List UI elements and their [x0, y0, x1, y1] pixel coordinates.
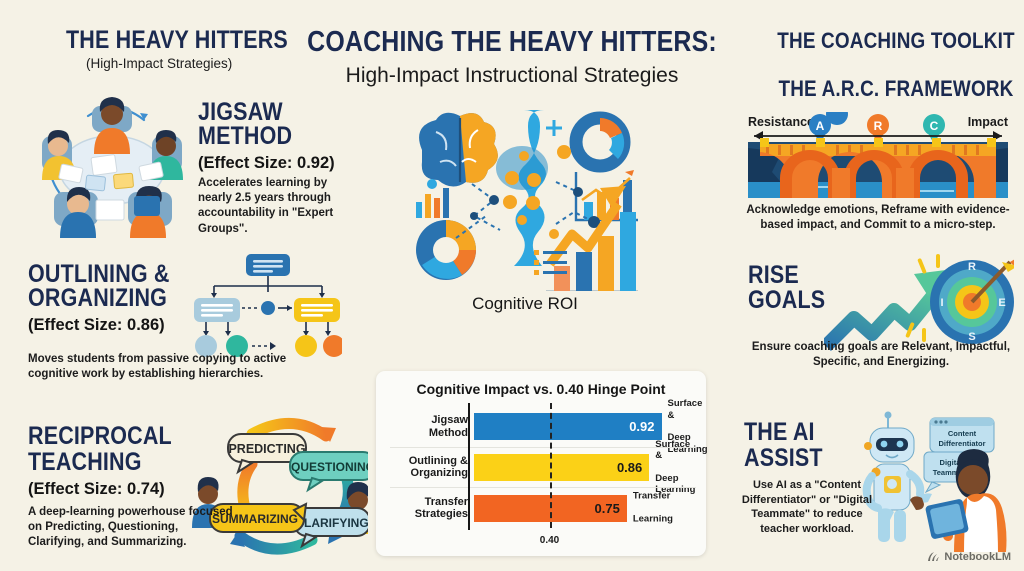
reciprocal-effect-size: (Effect Size: 0.74) [28, 480, 165, 499]
svg-text:C: C [930, 119, 939, 133]
chart-category-label: Jigsaw Method [390, 414, 474, 439]
reciprocal-title-line1: RECIPROCAL [28, 424, 172, 449]
rise-title-line2: GOALS [748, 288, 825, 313]
chart-annotation-line: Surface & [655, 439, 696, 462]
chart-bar-value: 0.86 [617, 460, 649, 475]
outlining-effect-size: (Effect Size: 0.86) [28, 316, 165, 335]
chart-annotation-line: Learning [633, 514, 673, 525]
arc-right-label: Impact [968, 115, 1009, 129]
outlining-title-line2: ORGANIZING [28, 286, 167, 311]
svg-text:CLARIFYING: CLARIFYING [295, 516, 368, 530]
page-title: COACHING THE HEAVY HITTERS: [307, 28, 717, 57]
svg-text:I: I [940, 297, 943, 309]
chart-bar-row: Jigsaw Method 0.92 Surface & Deep Learni… [390, 407, 696, 447]
arc-description: Acknowledge emotions, Reframe with evide… [744, 203, 1012, 233]
chart-category-line: Method [390, 427, 468, 440]
chart-annotation-line: Transfer [633, 491, 673, 502]
chart-y-axis [468, 403, 470, 530]
chart-bar-annotation: Transfer Learning [633, 480, 673, 537]
jigsaw-description: Accelerates learning by nearly 2.5 years… [198, 176, 348, 237]
chart-hinge-label: 0.40 [525, 535, 575, 546]
chart-plot-area: Jigsaw Method 0.92 Surface & Deep Learni… [390, 407, 696, 526]
toolkit-section-title: THE COACHING TOOLKIT [777, 30, 1014, 52]
chart-hinge-reference-line [550, 403, 552, 528]
svg-text:Content: Content [948, 429, 977, 438]
svg-text:PREDICTING: PREDICTING [228, 442, 305, 456]
reciprocal-description: A deep-learning powerhouse focused on Pr… [28, 505, 233, 551]
stone-bridge-icon: Resistance Impact A R C [744, 112, 1012, 198]
chart-category-label: Transfer Strategies [390, 496, 474, 521]
infographic-page: THE HEAVY HITTERS (High-Impact Strategie… [0, 0, 1024, 571]
chart-bar-value: 0.75 [595, 501, 627, 516]
ai-title-line2: ASSIST [744, 446, 823, 471]
chart-bar-jigsaw: 0.92 [474, 413, 662, 440]
watermark: NotebookLM [927, 550, 1011, 563]
svg-text:R: R [874, 119, 883, 133]
cognitive-roi-label: Cognitive ROI [415, 294, 635, 314]
robot-and-teacher-icon: Content Differentiator Digital Teammate [862, 402, 1022, 552]
chart-category-line: Organizing [390, 467, 468, 480]
hierarchy-tree-diagram-icon [192, 252, 342, 362]
chart-category-line: Strategies [390, 508, 468, 521]
chart-category-line: Outlining & [390, 455, 468, 468]
outlining-description: Moves students from passive copying to a… [28, 352, 328, 382]
notebooklm-logo-icon [927, 550, 940, 563]
svg-text:E: E [998, 297, 1005, 309]
watermark-label: NotebookLM [944, 551, 1011, 563]
cognitive-roi-illustration [406, 106, 644, 291]
ai-title-line1: THE AI [744, 420, 815, 445]
arc-left-label: Resistance [748, 115, 814, 129]
chart-title: Cognitive Impact vs. 0.40 Hinge Point [376, 381, 706, 397]
svg-text:Differentiator: Differentiator [938, 439, 985, 448]
svg-text:QUESTIONING: QUESTIONING [291, 460, 368, 474]
chart-annotation-line: Surface & [668, 398, 708, 421]
jigsaw-title-line2: METHOD [198, 124, 292, 149]
jigsaw-effect-size: (Effect Size: 0.92) [198, 154, 335, 173]
target-arrow-growth-arrow-icon: R I S E [824, 252, 1014, 352]
group-discussion-table-icon [30, 88, 195, 238]
chart-category-line: Jigsaw [390, 414, 468, 427]
chart-category-label: Outlining & Organizing [390, 455, 474, 480]
rise-description: Ensure coaching goals are Relevant, Impa… [742, 340, 1020, 370]
left-section-title: THE HEAVY HITTERS [66, 28, 288, 53]
ai-description: Use AI as a "Content Differentiator" or … [740, 478, 874, 537]
cognitive-impact-chart: Cognitive Impact vs. 0.40 Hinge Point Ji… [376, 371, 706, 556]
svg-text:A: A [816, 119, 825, 133]
arc-framework-title: THE A.R.C. FRAMEWORK [778, 78, 1013, 100]
chart-bar-outlining: 0.86 [474, 454, 649, 481]
svg-text:R: R [968, 261, 976, 273]
chart-bar-track: 0.75 Transfer Learning [474, 488, 696, 528]
chart-bar-row: Transfer Strategies 0.75 Transfer Learni… [390, 487, 696, 528]
rise-title-line1: RISE [748, 263, 799, 288]
chart-category-line: Transfer [390, 496, 468, 509]
reciprocal-title-line2: TEACHING [28, 450, 142, 475]
